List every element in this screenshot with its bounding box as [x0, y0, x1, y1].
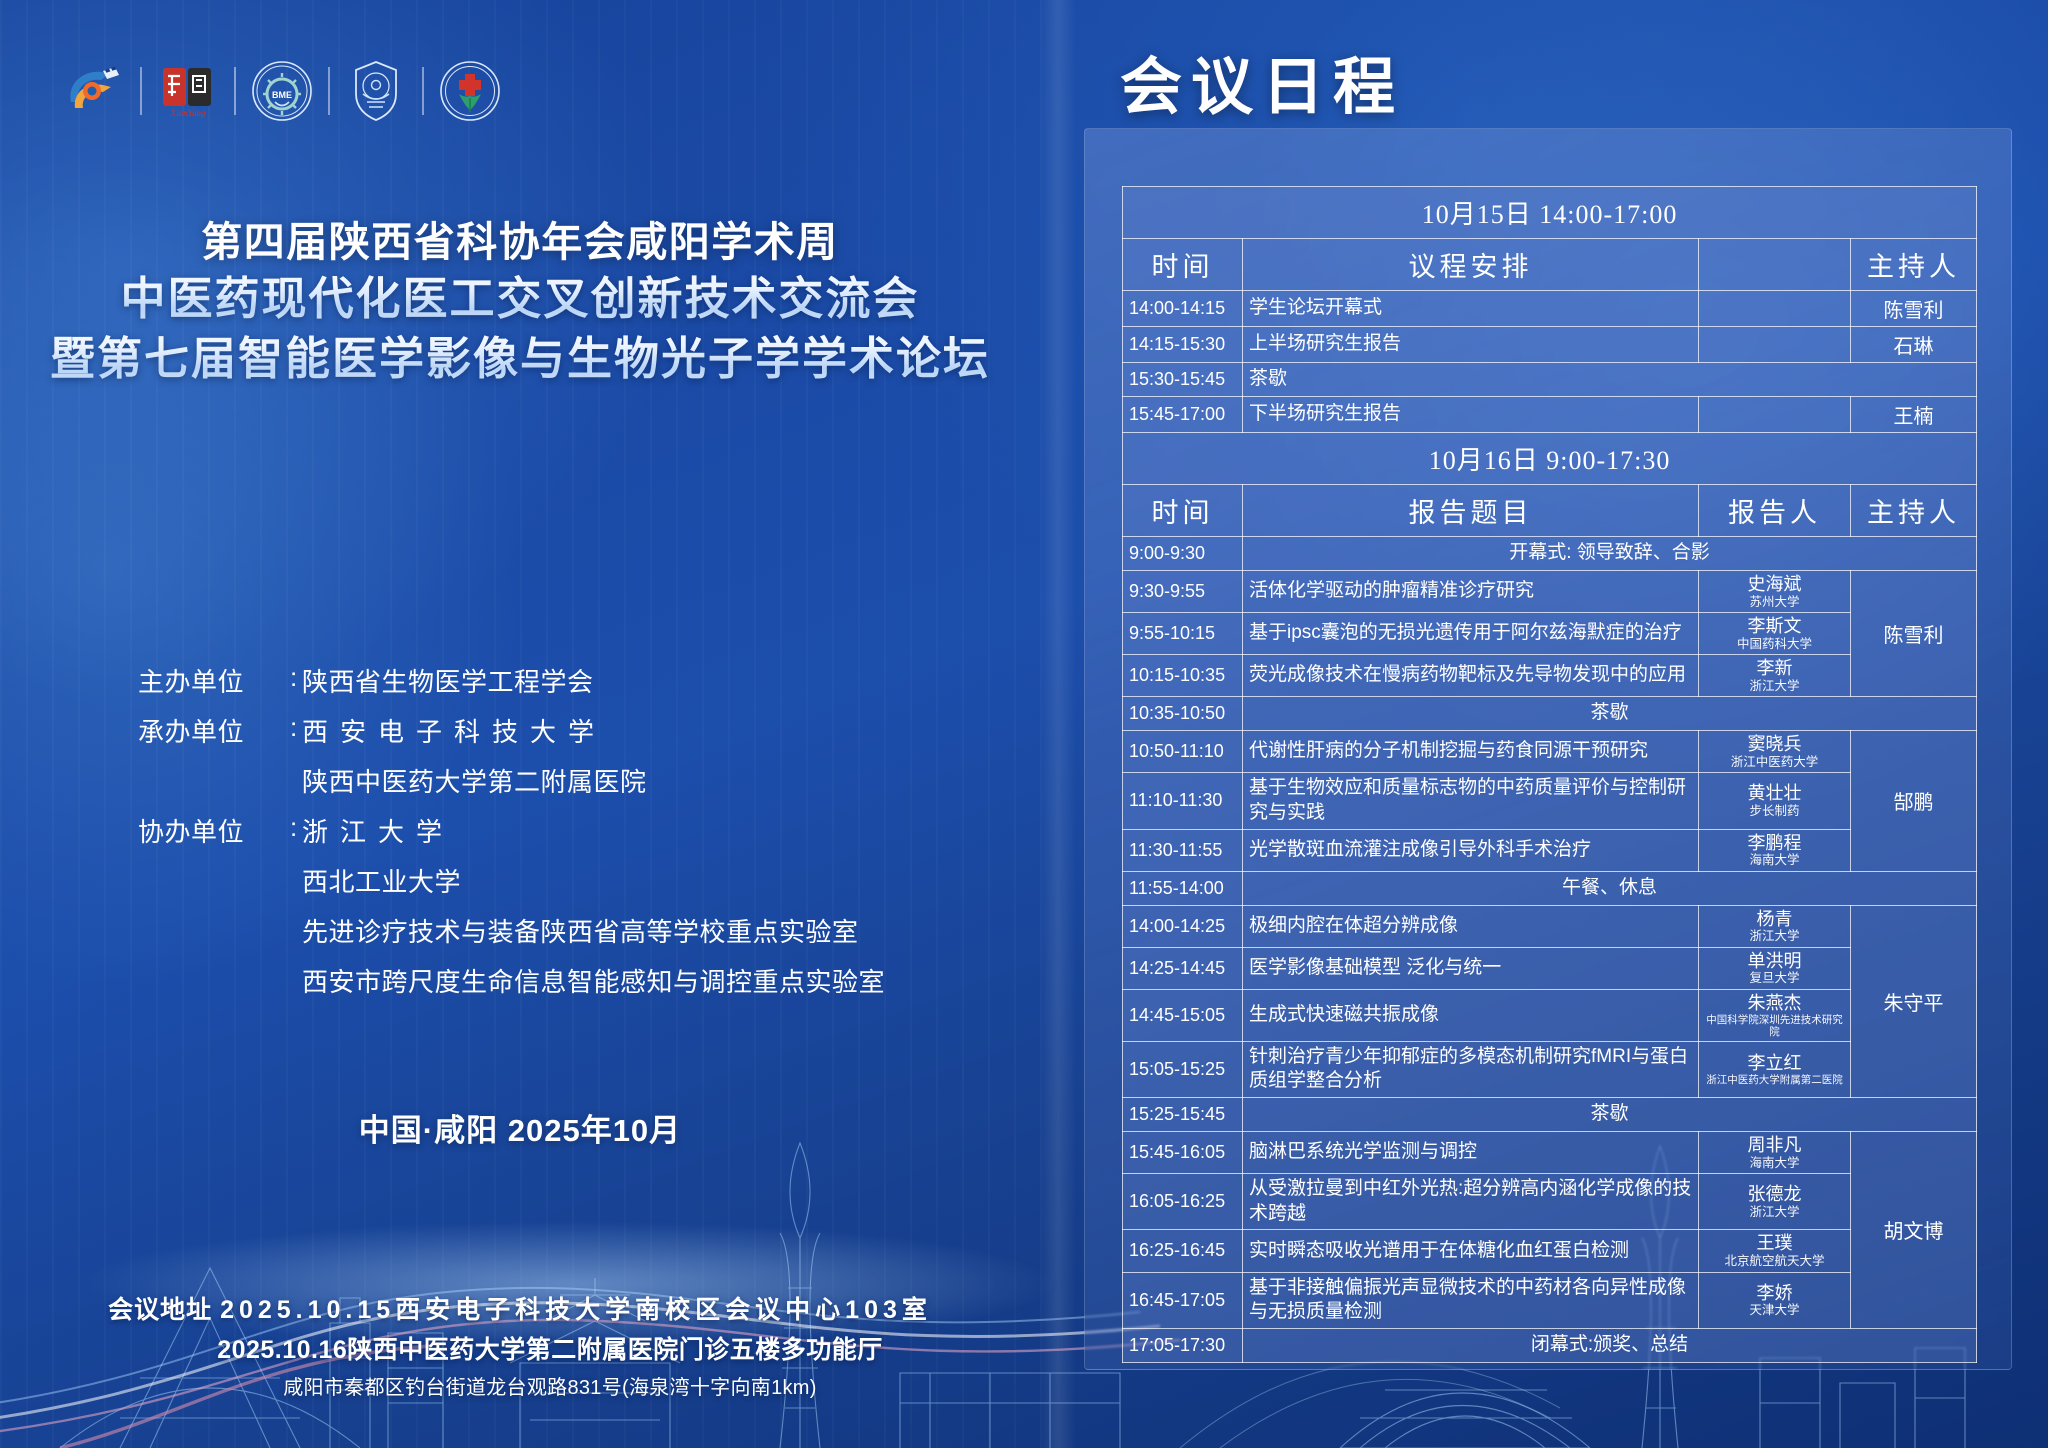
row-time: 15:25-15:45	[1123, 1098, 1243, 1132]
speaker-affiliation: 浙江中医药大学附属第二医院	[1705, 1074, 1844, 1086]
day1-header-topic: 议程安排	[1243, 239, 1699, 291]
table-row: 15:45-16:05 脑淋巴系统光学监测与调控 周非凡 海南大学 胡文博	[1123, 1132, 1977, 1174]
day2-header-topic: 报告题目	[1243, 485, 1699, 537]
speaker-name: 杨青	[1705, 909, 1844, 930]
row-topic: 基于生物效应和质量标志物的中药质量评价与控制研究与实践	[1243, 773, 1699, 829]
speaker-name: 李新	[1705, 658, 1844, 679]
row-speaker	[1699, 291, 1851, 327]
table-row: 15:05-15:25 针刺治疗青少年抑郁症的多模态机制研究fMRI与蛋白质组学…	[1123, 1041, 1977, 1097]
row-speaker: 杨青 浙江大学	[1699, 905, 1851, 947]
speaker-affiliation: 浙江大学	[1705, 679, 1844, 693]
row-time: 11:30-11:55	[1123, 829, 1243, 871]
row-topic: 针刺治疗青少年抑郁症的多模态机制研究fMRI与蛋白质组学整合分析	[1243, 1041, 1699, 1097]
row-topic-full: 开幕式: 领导致辞、合影	[1243, 537, 1977, 571]
organizer-colon: :	[290, 712, 302, 743]
xidian-university-logo	[343, 58, 409, 124]
organizer-colon: :	[290, 812, 302, 843]
sponsor-logo-row: XianYang BME	[48, 58, 516, 124]
table-row: 14:00-14:25 极细内腔在体超分辨成像 杨青 浙江大学 朱守平	[1123, 905, 1977, 947]
poster-title-sub-line2: 暨第七届智能医学影像与生物光子学学术论坛	[0, 322, 1040, 387]
row-speaker: 李斯文 中国药科大学	[1699, 613, 1851, 655]
row-time: 15:05-15:25	[1123, 1041, 1243, 1097]
row-time: 11:10-11:30	[1123, 773, 1243, 829]
table-row: 14:15-15:30 上半场研究生报告 石琳	[1123, 327, 1977, 363]
speaker-affiliation: 浙江中医药大学	[1705, 755, 1844, 769]
row-speaker: 李立红 浙江中医药大学附属第二医院	[1699, 1041, 1851, 1097]
table-row: 10:50-11:10 代谢性肝病的分子机制挖掘与药食同源干预研究 窦晓兵 浙江…	[1123, 731, 1977, 773]
day1-header-time: 时间	[1123, 239, 1243, 291]
row-time: 14:00-14:15	[1123, 291, 1243, 327]
day2-header-chair: 主持人	[1851, 485, 1977, 537]
organizer-value-undertaker: 西安电子科技大学	[302, 712, 958, 749]
row-time: 10:35-10:50	[1123, 697, 1243, 731]
speaker-name: 朱燕杰	[1705, 993, 1844, 1014]
agenda-table-body: 10月15日 14:00-17:00 时间 议程安排 主持人 14:00-14:…	[1123, 187, 1977, 1363]
table-row: 17:05-17:30 闭幕式:颁奖、总结	[1123, 1328, 1977, 1362]
row-topic: 代谢性肝病的分子机制挖掘与药食同源干预研究	[1243, 731, 1699, 773]
organizer-row-coorganizer: 协办单位 : 浙江大学	[138, 812, 958, 849]
row-speaker: 史海斌 苏州大学	[1699, 571, 1851, 613]
row-chair: 王楠	[1851, 397, 1977, 433]
table-row: 9:30-9:55 活体化学驱动的肿瘤精准诊疗研究 史海斌 苏州大学 陈雪利	[1123, 571, 1977, 613]
xianyang-seal-logo: XianYang	[155, 58, 221, 124]
row-speaker: 黄壮壮 步长制药	[1699, 773, 1851, 829]
row-chair: 郜鹏	[1851, 731, 1977, 872]
panel-divider	[1040, 0, 1076, 1448]
day1-bar-row: 10月15日 14:00-17:00	[1123, 187, 1977, 239]
row-speaker: 李新 浙江大学	[1699, 655, 1851, 697]
place-date-line: 中国·咸阳 2025年10月	[0, 1105, 1040, 1150]
row-topic: 下半场研究生报告	[1243, 397, 1699, 433]
logo-separator	[234, 67, 236, 115]
row-speaker: 张德龙 浙江大学	[1699, 1174, 1851, 1230]
row-topic: 基于ipsc囊泡的无损光遗传用于阿尔兹海默症的治疗	[1243, 613, 1699, 655]
table-row: 16:25-16:45 实时瞬态吸收光谱用于在体糖化血红蛋白检测 王璞 北京航空…	[1123, 1230, 1977, 1272]
speaker-affiliation: 浙江大学	[1705, 1205, 1844, 1219]
row-speaker: 窦晓兵 浙江中医药大学	[1699, 731, 1851, 773]
row-speaker	[1699, 397, 1851, 433]
organizer-value-host: 陕西省生物医学工程学会	[302, 662, 958, 699]
speaker-name: 李立红	[1705, 1053, 1844, 1074]
table-row: 15:45-17:00 下半场研究生报告 王楠	[1123, 397, 1977, 433]
table-row: 14:45-15:05 生成式快速磁共振成像 朱燕杰 中国科学院深圳先进技术研究…	[1123, 989, 1977, 1041]
organizer-colon: :	[290, 662, 302, 693]
day2-bar-row: 10月16日 9:00-17:30	[1123, 433, 1977, 485]
logo-separator	[422, 67, 424, 115]
organizer-coorganizer-extra-1: 西北工业大学	[302, 862, 958, 899]
day1-header-row: 时间 议程安排 主持人	[1123, 239, 1977, 291]
row-topic: 从受激拉曼到中红外光热:超分辨高内涵化学成像的技术跨越	[1243, 1174, 1699, 1230]
organizer-row-host: 主办单位 : 陕西省生物医学工程学会	[138, 662, 958, 699]
svg-text:BME: BME	[272, 90, 292, 100]
row-chair: 石琳	[1851, 327, 1977, 363]
speaker-name: 王璞	[1705, 1233, 1844, 1254]
row-time: 15:45-16:05	[1123, 1132, 1243, 1174]
logo-separator	[328, 67, 330, 115]
speaker-affiliation: 步长制药	[1705, 804, 1844, 818]
footer-address-label: 会议地址	[108, 1296, 212, 1324]
table-row: 15:25-15:45 茶歇	[1123, 1098, 1977, 1132]
agenda-table: 10月15日 14:00-17:00 时间 议程安排 主持人 14:00-14:…	[1122, 186, 1977, 1363]
day2-header-speaker: 报告人	[1699, 485, 1851, 537]
speaker-name: 李鹏程	[1705, 833, 1844, 854]
organizers-block: 主办单位 : 陕西省生物医学工程学会 承办单位 : 西安电子科技大学 陕西中医药…	[138, 662, 958, 1012]
footer-address-line3: 咸阳市秦都区钓台街道龙台观路831号(海泉湾十字向南1km)	[0, 1371, 1040, 1400]
speaker-affiliation: 复旦大学	[1705, 971, 1844, 985]
row-topic: 活体化学驱动的肿瘤精准诊疗研究	[1243, 571, 1699, 613]
table-row: 14:25-14:45 医学影像基础模型 泛化与统一 单洪明 复旦大学	[1123, 947, 1977, 989]
day1-header-speaker	[1699, 239, 1851, 291]
table-row: 15:30-15:45 茶歇	[1123, 363, 1977, 397]
row-speaker: 王璞 北京航空航天大学	[1699, 1230, 1851, 1272]
row-speaker: 李鹏程 海南大学	[1699, 829, 1851, 871]
speaker-affiliation: 浙江大学	[1705, 929, 1844, 943]
table-row: 9:55-10:15 基于ipsc囊泡的无损光遗传用于阿尔兹海默症的治疗 李斯文…	[1123, 613, 1977, 655]
row-topic-full: 茶歇	[1243, 697, 1977, 731]
day1-date-bar: 10月15日 14:00-17:00	[1123, 187, 1977, 239]
speaker-name: 李娇	[1705, 1283, 1844, 1304]
row-topic: 学生论坛开幕式	[1243, 291, 1699, 327]
table-row: 9:00-9:30 开幕式: 领导致辞、合影	[1123, 537, 1977, 571]
speaker-affiliation: 北京航空航天大学	[1705, 1254, 1844, 1268]
row-time: 14:15-15:30	[1123, 327, 1243, 363]
row-time: 10:15-10:35	[1123, 655, 1243, 697]
row-time: 10:50-11:10	[1123, 731, 1243, 773]
table-row: 10:15-10:35 荧光成像技术在慢病药物靶标及先导物发现中的应用 李新 浙…	[1123, 655, 1977, 697]
speaker-name: 窦晓兵	[1705, 734, 1844, 755]
row-time: 9:55-10:15	[1123, 613, 1243, 655]
row-chair: 胡文博	[1851, 1132, 1977, 1329]
row-topic-full: 茶歇	[1243, 1098, 1977, 1132]
organizer-row-undertaker: 承办单位 : 西安电子科技大学	[138, 712, 958, 749]
row-speaker: 李娇 天津大学	[1699, 1272, 1851, 1328]
row-topic: 实时瞬态吸收光谱用于在体糖化血红蛋白检测	[1243, 1230, 1699, 1272]
row-speaker	[1699, 327, 1851, 363]
speaker-affiliation: 中国药科大学	[1705, 637, 1844, 651]
speaker-name: 史海斌	[1705, 574, 1844, 595]
row-speaker: 单洪明 复旦大学	[1699, 947, 1851, 989]
speaker-affiliation: 中国科学院深圳先进技术研究院	[1705, 1014, 1844, 1038]
speaker-name: 张德龙	[1705, 1184, 1844, 1205]
footer-address-line2: 2025.10.16陕西中医药大学第二附属医院门诊五楼多功能厅	[0, 1330, 1040, 1366]
row-time: 16:05-16:25	[1123, 1174, 1243, 1230]
footer-address-value: 2025.10.15西安电子科技大学南校区会议中心103室	[220, 1296, 932, 1324]
organizer-undertaker-extra-1: 陕西中医药大学第二附属医院	[302, 762, 958, 799]
day2-header-row: 时间 报告题目 报告人 主持人	[1123, 485, 1977, 537]
poster-title-main: 第四届陕西省科协年会咸阳学术周	[0, 208, 1040, 268]
row-topic-full: 午餐、休息	[1243, 871, 1977, 905]
organizer-label-host: 主办单位	[138, 662, 290, 699]
xianyang-keyie-logo	[61, 58, 127, 124]
logo-separator	[140, 67, 142, 115]
organizer-label-undertaker: 承办单位	[138, 712, 290, 749]
row-topic-full: 茶歇	[1243, 363, 1977, 397]
row-topic: 上半场研究生报告	[1243, 327, 1699, 363]
row-time: 11:55-14:00	[1123, 871, 1243, 905]
table-row: 10:35-10:50 茶歇	[1123, 697, 1977, 731]
speaker-name: 黄壮壮	[1705, 783, 1844, 804]
row-speaker: 朱燕杰 中国科学院深圳先进技术研究院	[1699, 989, 1851, 1041]
table-row: 11:10-11:30 基于生物效应和质量标志物的中药质量评价与控制研究与实践 …	[1123, 773, 1977, 829]
row-chair: 陈雪利	[1851, 291, 1977, 327]
table-row: 11:55-14:00 午餐、休息	[1123, 871, 1977, 905]
speaker-name: 周非凡	[1705, 1135, 1844, 1156]
shaanxi-tcm-hospital-logo	[437, 58, 503, 124]
conference-poster: XianYang BME	[0, 0, 2048, 1448]
organizer-value-coorganizer: 浙江大学	[302, 812, 958, 849]
agenda-panel-title: 会议日程	[1120, 36, 1404, 126]
table-row: 14:00-14:15 学生论坛开幕式 陈雪利	[1123, 291, 1977, 327]
speaker-affiliation: 海南大学	[1705, 853, 1844, 867]
row-time: 14:45-15:05	[1123, 989, 1243, 1041]
row-time: 15:45-17:00	[1123, 397, 1243, 433]
row-time: 9:30-9:55	[1123, 571, 1243, 613]
day2-date-bar: 10月16日 9:00-17:30	[1123, 433, 1977, 485]
footer-address-line1: 会议地址 2025.10.15西安电子科技大学南校区会议中心103室	[0, 1290, 1040, 1326]
row-time: 14:00-14:25	[1123, 905, 1243, 947]
row-speaker: 周非凡 海南大学	[1699, 1132, 1851, 1174]
svg-text:XianYang: XianYang	[170, 108, 206, 118]
footer-address-block: 会议地址 2025.10.15西安电子科技大学南校区会议中心103室 2025.…	[0, 1290, 1040, 1400]
row-topic: 脑淋巴系统光学监测与调控	[1243, 1132, 1699, 1174]
organizer-coorganizer-extra-2: 先进诊疗技术与装备陕西省高等学校重点实验室	[302, 912, 958, 949]
row-chair: 朱守平	[1851, 905, 1977, 1097]
day2-header-time: 时间	[1123, 485, 1243, 537]
row-topic: 医学影像基础模型 泛化与统一	[1243, 947, 1699, 989]
row-time: 15:30-15:45	[1123, 363, 1243, 397]
row-time: 17:05-17:30	[1123, 1328, 1243, 1362]
organizer-label-coorganizer: 协办单位	[138, 812, 290, 849]
speaker-name: 李斯文	[1705, 616, 1844, 637]
table-row: 11:30-11:55 光学散斑血流灌注成像引导外科手术治疗 李鹏程 海南大学	[1123, 829, 1977, 871]
table-row: 16:45-17:05 基于非接触偏振光声显微技术的中药材各向异性成像与无损质量…	[1123, 1272, 1977, 1328]
row-topic: 基于非接触偏振光声显微技术的中药材各向异性成像与无损质量检测	[1243, 1272, 1699, 1328]
row-topic: 生成式快速磁共振成像	[1243, 989, 1699, 1041]
day1-header-chair: 主持人	[1851, 239, 1977, 291]
bme-society-logo: BME	[249, 58, 315, 124]
speaker-affiliation: 天津大学	[1705, 1303, 1844, 1317]
speaker-name: 单洪明	[1705, 951, 1844, 972]
row-time: 14:25-14:45	[1123, 947, 1243, 989]
row-time: 16:45-17:05	[1123, 1272, 1243, 1328]
row-time: 16:25-16:45	[1123, 1230, 1243, 1272]
row-topic-full: 闭幕式:颁奖、总结	[1243, 1328, 1977, 1362]
speaker-affiliation: 海南大学	[1705, 1156, 1844, 1170]
row-topic: 荧光成像技术在慢病药物靶标及先导物发现中的应用	[1243, 655, 1699, 697]
organizer-coorganizer-extra-3: 西安市跨尺度生命信息智能感知与调控重点实验室	[302, 962, 958, 999]
row-topic: 极细内腔在体超分辨成像	[1243, 905, 1699, 947]
table-row: 16:05-16:25 从受激拉曼到中红外光热:超分辨高内涵化学成像的技术跨越 …	[1123, 1174, 1977, 1230]
poster-title-sub-line1: 中医药现代化医工交叉创新技术交流会	[0, 262, 1040, 327]
speaker-affiliation: 苏州大学	[1705, 595, 1844, 609]
row-topic: 光学散斑血流灌注成像引导外科手术治疗	[1243, 829, 1699, 871]
row-chair: 陈雪利	[1851, 571, 1977, 697]
row-time: 9:00-9:30	[1123, 537, 1243, 571]
